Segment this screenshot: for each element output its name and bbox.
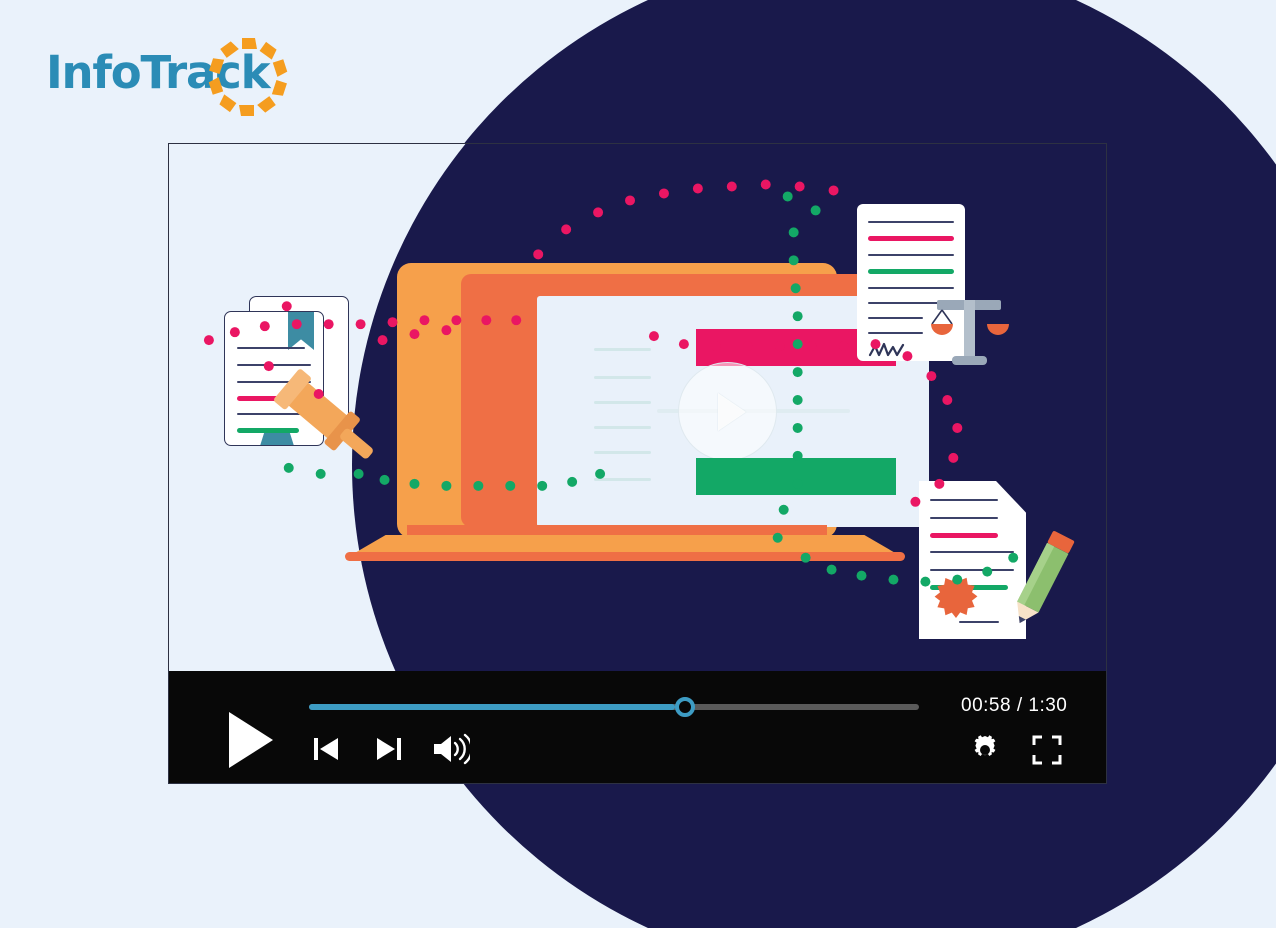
skip-next-icon: [377, 738, 401, 760]
progress-fill: [309, 704, 675, 710]
screen-text-line: [594, 376, 651, 379]
progress-bar[interactable]: [309, 698, 919, 716]
document-line: [868, 221, 954, 223]
document-line: [868, 332, 923, 334]
laptop-illustration: [345, 263, 905, 671]
document-line: [868, 254, 954, 256]
document-line: [930, 551, 1014, 553]
infotrack-ring-icon: [206, 35, 290, 119]
progress-thumb[interactable]: [675, 697, 695, 717]
screen-text-line: [594, 478, 651, 481]
pencil-icon: [1004, 524, 1079, 634]
volume-up-icon: [434, 735, 470, 763]
laptop-base-lip: [345, 552, 905, 561]
document-line: [930, 499, 998, 501]
screen-play-circle-icon: [678, 362, 777, 461]
player-control-bar[interactable]: 00:58 / 1:30: [169, 671, 1106, 783]
seal-stamp-icon: [932, 574, 980, 622]
play-icon: [229, 712, 273, 768]
document-line: [237, 364, 311, 366]
laptop-base: [345, 535, 905, 561]
infotrack-logo: InfoTrack: [46, 38, 256, 116]
document-highlight-pink: [868, 236, 954, 241]
document-highlight-pink: [930, 533, 998, 538]
laptop-bezel-outer: [397, 263, 837, 538]
document-line: [930, 517, 998, 519]
bookmark-icon: [288, 312, 314, 350]
laptop-bezel-inner: [461, 274, 877, 527]
document-line: [237, 347, 305, 349]
signature-icon: [868, 339, 918, 361]
screen-bar-green: [696, 458, 896, 495]
page-canvas: InfoTrack: [0, 0, 1276, 928]
play-button[interactable]: [229, 712, 275, 768]
screen-play-triangle: [718, 393, 746, 431]
document-highlight-green: [868, 269, 954, 274]
document-line: [868, 287, 954, 289]
document-line: [868, 317, 923, 319]
time-display: 00:58 / 1:30: [961, 695, 1067, 717]
fullscreen-button[interactable]: [1032, 735, 1062, 765]
scales-of-justice-icon: [924, 292, 1014, 367]
document-line: [930, 569, 1014, 571]
screen-text-line: [594, 426, 651, 429]
settings-button[interactable]: [969, 734, 1001, 766]
video-viewport[interactable]: [169, 144, 1106, 671]
fullscreen-icon: [1034, 737, 1060, 763]
gear-icon: [975, 735, 996, 756]
volume-button[interactable]: [432, 733, 470, 765]
previous-button[interactable]: [311, 735, 341, 763]
video-player[interactable]: 00:58 / 1:30: [168, 143, 1107, 784]
skip-previous-icon: [314, 738, 338, 760]
screen-text-line: [594, 348, 651, 351]
screen-text-line: [594, 451, 651, 454]
screen-text-line: [594, 401, 651, 404]
next-button[interactable]: [374, 735, 404, 763]
